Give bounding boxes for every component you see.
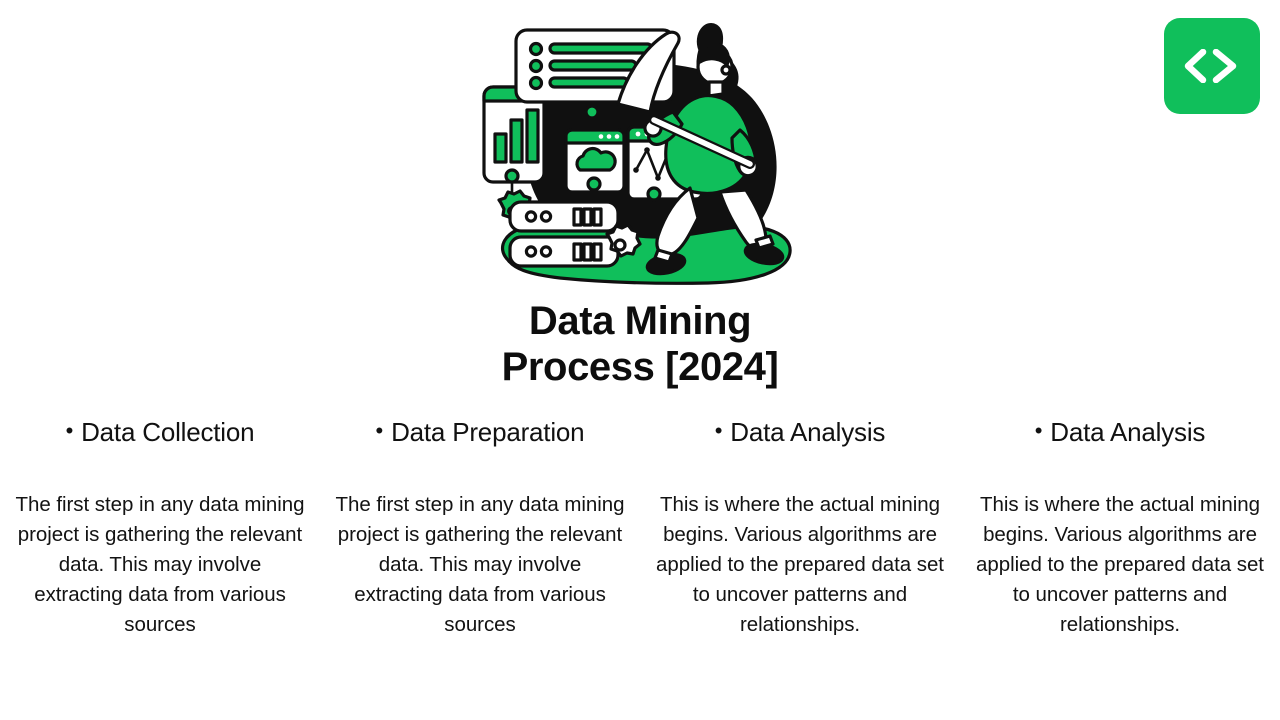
step-column-data-analysis-1: •Data Analysis This is where the actual …: [640, 418, 960, 640]
step-body: This is where the actual mining begins. …: [654, 490, 946, 640]
step-heading-label: Data Preparation: [391, 417, 584, 447]
step-heading-label: Data Analysis: [1050, 417, 1205, 447]
step-heading: •Data Analysis: [974, 418, 1266, 448]
bullet-icon: •: [715, 420, 723, 442]
bullet-icon: •: [376, 420, 384, 442]
bullet-icon: •: [1035, 420, 1043, 442]
step-heading: •Data Collection: [14, 418, 306, 448]
step-body: The first step in any data mining projec…: [334, 490, 626, 640]
step-body: The first step in any data mining projec…: [14, 490, 306, 640]
title-line-2: Process [2024]: [0, 344, 1280, 390]
bullet-icon: •: [66, 420, 74, 442]
brand-logo[interactable]: [1164, 18, 1260, 114]
step-column-data-collection: •Data Collection The first step in any d…: [0, 418, 320, 640]
step-column-data-analysis-2: •Data Analysis This is where the actual …: [960, 418, 1280, 640]
data-mining-illustration: [468, 12, 812, 294]
cloud-window-card: [566, 130, 624, 192]
step-heading: •Data Preparation: [334, 418, 626, 448]
title-line-1: Data Mining: [0, 298, 1280, 344]
server-rack-bottom: [510, 237, 618, 266]
steps-row: •Data Collection The first step in any d…: [0, 418, 1280, 640]
step-heading-label: Data Collection: [81, 417, 254, 447]
code-brackets-icon: [1183, 49, 1241, 83]
server-rack-top: [510, 202, 618, 231]
step-column-data-preparation: •Data Preparation The first step in any …: [320, 418, 640, 640]
page-title: Data Mining Process [2024]: [0, 298, 1280, 391]
step-heading: •Data Analysis: [654, 418, 946, 448]
step-heading-label: Data Analysis: [730, 417, 885, 447]
step-body: This is where the actual mining begins. …: [974, 490, 1266, 640]
